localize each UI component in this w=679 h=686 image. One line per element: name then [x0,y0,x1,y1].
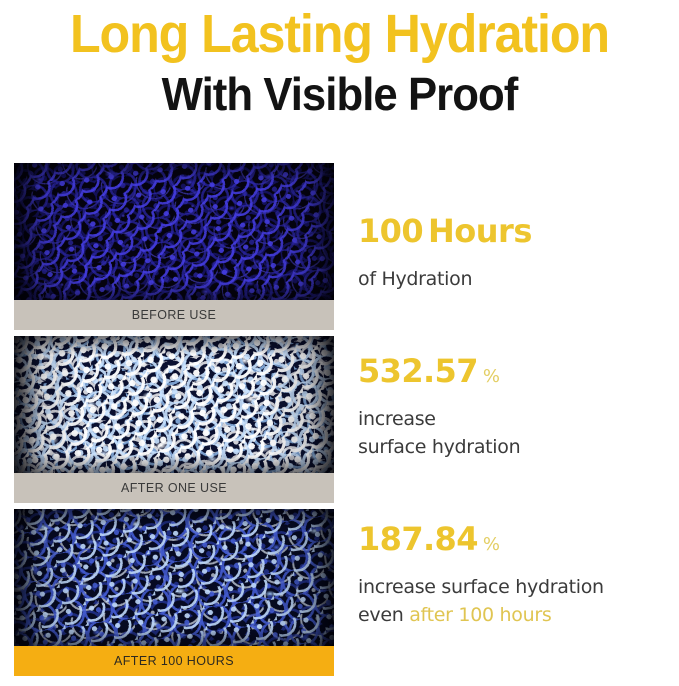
stat-number: 532.57 [358,352,478,390]
panel-caption-before-use: BEFORE USE [14,300,334,330]
micrograph-image-before-use [14,163,334,300]
stat-suffix: % [483,534,500,555]
stat-value-line: 187.84% [358,521,676,563]
stat-block-surface-hydration-increase: 532.57% increasesurface hydration [358,353,676,461]
comparison-panel-column: BEFORE USE AFTER ONE USE AFTER 100 HOURS [14,163,334,682]
comparison-panel-before-use: BEFORE USE [14,163,334,330]
image-vignette [14,336,334,473]
micrograph-image-after-one-use [14,336,334,473]
comparison-panel-after-one-use: AFTER ONE USE [14,336,334,503]
panel-caption-after-one-use: AFTER ONE USE [14,473,334,503]
stat-block-hydration-hours: 100Hours of Hydration [358,213,676,293]
stat-suffix: % [483,366,500,387]
comparison-panel-after-100-hours: AFTER 100 HOURS [14,509,334,676]
stat-block-hydration-after-100-hours: 187.84% increase surface hydrationeven a… [358,521,676,629]
stat-value-line: 100Hours [358,213,676,255]
micrograph-image-after-100-hours [14,509,334,646]
stat-number: 100 [358,212,423,250]
stat-number: 187.84 [358,520,478,558]
stat-description-highlight: after 100 hours [409,604,551,626]
headline-line-2: With Visible Proof [17,69,662,119]
stat-unit: Hours [428,212,532,250]
image-vignette [14,509,334,646]
stat-description: of Hydration [358,265,676,293]
headline-line-1: Long Lasting Hydration [24,5,655,63]
stat-value-line: 532.57% [358,353,676,395]
image-vignette [14,163,334,300]
stat-description-text: of Hydration [358,268,472,290]
panel-caption-after-100-hours: AFTER 100 HOURS [14,646,334,676]
headline-block: Long Lasting Hydration With Visible Proo… [0,0,679,119]
stat-description: increase surface hydrationeven after 100… [358,573,676,629]
stat-description: increasesurface hydration [358,405,676,461]
stat-description-text: increasesurface hydration [358,408,520,458]
